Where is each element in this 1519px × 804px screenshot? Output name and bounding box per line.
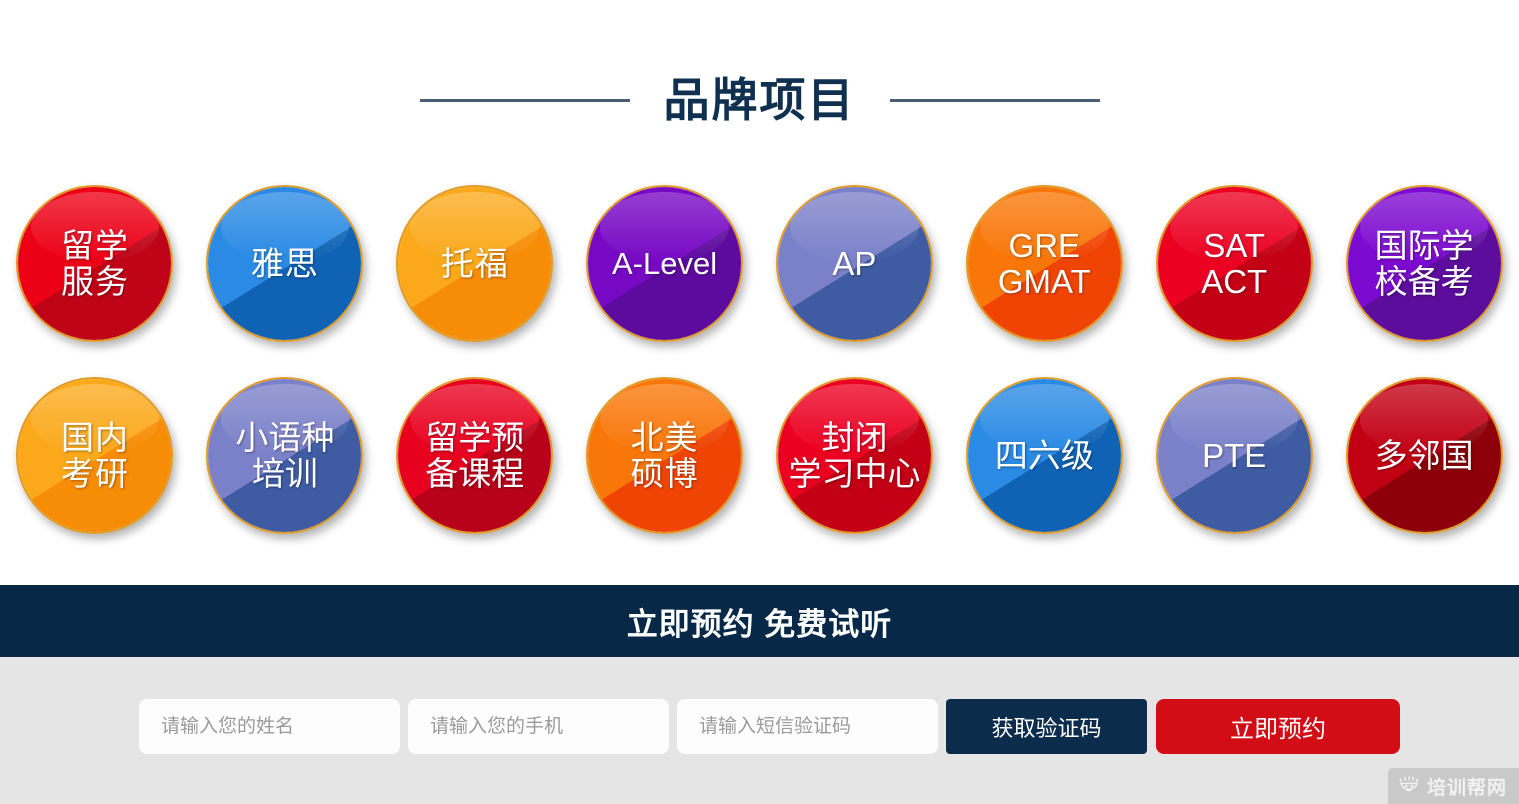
program-circle-label: 北美 硕博 xyxy=(629,420,701,491)
program-cell: 留学预 备课程 xyxy=(380,375,570,536)
cta-banner: 立即预约 免费试听 xyxy=(0,585,1519,657)
program-row-2: 国内 考研小语种 培训留学预 备课程北美 硕博封闭 学习中心四六级PTE多邻国 xyxy=(0,375,1519,536)
program-cell: SAT ACT xyxy=(1139,183,1329,344)
watermark: 培训帮网 xyxy=(1388,768,1519,804)
program-circle[interactable]: A-Level xyxy=(586,185,743,342)
program-circle-label: 国际学 校备考 xyxy=(1373,228,1476,299)
program-circle-label: 雅思 xyxy=(249,246,321,282)
program-circle-label: 托福 xyxy=(439,246,511,282)
program-cell: 小语种 培训 xyxy=(190,375,380,536)
program-cell: 北美 硕博 xyxy=(570,375,760,536)
heading-rule-left xyxy=(420,99,630,102)
program-circle[interactable]: 雅思 xyxy=(206,185,363,342)
program-circle[interactable]: 国际学 校备考 xyxy=(1346,185,1503,342)
program-circle[interactable]: 多邻国 xyxy=(1346,377,1503,534)
phone-input[interactable] xyxy=(408,699,669,754)
page-title: 品牌项目 xyxy=(664,77,856,123)
program-circle-label: GRE GMAT xyxy=(996,228,1093,299)
program-circle-label: SAT ACT xyxy=(1199,228,1269,299)
section-heading: 品牌项目 xyxy=(0,62,1519,138)
program-circle-label: 国内 考研 xyxy=(59,420,131,491)
program-circle[interactable]: 留学 服务 xyxy=(16,185,173,342)
watermark-text: 培训帮网 xyxy=(1427,773,1507,800)
program-circle[interactable]: 北美 硕博 xyxy=(586,377,743,534)
submit-reservation-button[interactable]: 立即预约 xyxy=(1156,699,1400,754)
cta-banner-text: 立即预约 免费试听 xyxy=(627,599,893,644)
program-cell: AP xyxy=(760,183,950,344)
name-input[interactable] xyxy=(139,699,400,754)
program-cell: 国际学 校备考 xyxy=(1329,183,1519,344)
program-circle[interactable]: 国内 考研 xyxy=(16,377,173,534)
get-code-button[interactable]: 获取验证码 xyxy=(946,699,1147,754)
program-cell: GRE GMAT xyxy=(949,183,1139,344)
program-circle-label: 封闭 学习中心 xyxy=(778,420,931,491)
program-circle-label: A-Level xyxy=(610,247,719,280)
program-cell: 多邻国 xyxy=(1329,375,1519,536)
program-circle[interactable]: SAT ACT xyxy=(1156,185,1313,342)
program-circle-label: AP xyxy=(830,246,878,282)
sun-face-icon xyxy=(1398,775,1420,797)
program-circle[interactable]: 托福 xyxy=(396,185,553,342)
reservation-form: 获取验证码 立即预约 xyxy=(0,657,1519,804)
form-fields: 获取验证码 立即预约 xyxy=(139,699,1400,754)
page-root: 品牌项目 留学 服务雅思托福A-LevelAPGRE GMATSAT ACT国际… xyxy=(0,0,1519,804)
program-circle[interactable]: PTE xyxy=(1156,377,1313,534)
program-cell: 托福 xyxy=(380,183,570,344)
program-circle-label: PTE xyxy=(1200,438,1268,474)
program-circle-label: 多邻国 xyxy=(1373,438,1476,474)
program-circle[interactable]: 四六级 xyxy=(966,377,1123,534)
program-row-1: 留学 服务雅思托福A-LevelAPGRE GMATSAT ACT国际学 校备考 xyxy=(0,183,1519,344)
program-circle-label: 小语种 培训 xyxy=(233,420,336,491)
program-cell: A-Level xyxy=(570,183,760,344)
program-circle[interactable]: AP xyxy=(776,185,933,342)
program-circle-label: 留学预 备课程 xyxy=(423,420,526,491)
sms-code-input[interactable] xyxy=(677,699,938,754)
program-circle[interactable]: 小语种 培训 xyxy=(206,377,363,534)
program-cell: 封闭 学习中心 xyxy=(760,375,950,536)
program-cell: PTE xyxy=(1139,375,1329,536)
program-cell: 四六级 xyxy=(949,375,1139,536)
program-cell: 雅思 xyxy=(190,183,380,344)
program-circle[interactable]: 留学预 备课程 xyxy=(396,377,553,534)
program-grid: 留学 服务雅思托福A-LevelAPGRE GMATSAT ACT国际学 校备考… xyxy=(0,183,1519,536)
program-circle-label: 四六级 xyxy=(993,438,1096,474)
program-cell: 留学 服务 xyxy=(0,183,190,344)
program-circle[interactable]: GRE GMAT xyxy=(966,185,1123,342)
program-cell: 国内 考研 xyxy=(0,375,190,536)
heading-rule-right xyxy=(890,99,1100,102)
program-circle-label: 留学 服务 xyxy=(59,228,131,299)
program-circle[interactable]: 封闭 学习中心 xyxy=(776,377,933,534)
